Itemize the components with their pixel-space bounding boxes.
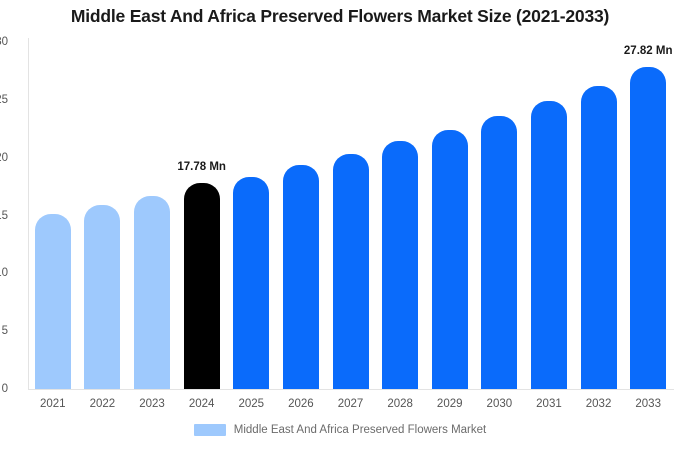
bar-value-label-2024: 17.78 Mn	[177, 161, 226, 173]
x-tick-label: 2031	[536, 398, 562, 410]
x-tick-label: 2023	[139, 398, 165, 410]
bar-chart: Middle East And Africa Preserved Flowers…	[0, 0, 680, 450]
legend-swatch-icon	[194, 424, 226, 436]
x-tick-label: 2025	[238, 398, 264, 410]
y-tick-label: 0	[0, 383, 8, 395]
y-tick-label: 5	[0, 325, 8, 337]
bar-value-label-2033: 27.82 Mn	[624, 45, 673, 57]
bar-2030[interactable]	[481, 116, 517, 389]
legend-label: Middle East And Africa Preserved Flowers…	[234, 424, 486, 436]
bar-2021[interactable]	[35, 214, 71, 389]
bar-2033[interactable]	[630, 67, 666, 389]
bar-2031[interactable]	[531, 101, 567, 389]
bar-2028[interactable]	[382, 141, 418, 389]
x-tick-label: 2029	[437, 398, 463, 410]
x-axis-line	[28, 389, 674, 390]
bar-2026[interactable]	[283, 165, 319, 389]
x-tick-label: 2026	[288, 398, 314, 410]
y-tick-label: 15	[0, 210, 8, 222]
y-tick-label: 20	[0, 152, 8, 164]
chart-legend: Middle East And Africa Preserved Flowers…	[0, 424, 680, 436]
chart-title: Middle East And Africa Preserved Flowers…	[0, 6, 680, 27]
bar-2023[interactable]	[134, 196, 170, 389]
x-tick-label: 2032	[586, 398, 612, 410]
x-tick-label: 2028	[387, 398, 413, 410]
bar-2022[interactable]	[84, 205, 120, 389]
x-tick-label: 2030	[487, 398, 513, 410]
bar-2027[interactable]	[333, 154, 369, 389]
x-tick-label: 2021	[40, 398, 66, 410]
x-tick-label: 2024	[189, 398, 215, 410]
x-tick-label: 2027	[338, 398, 364, 410]
y-tick-label: 10	[0, 267, 8, 279]
y-tick-label: 25	[0, 94, 8, 106]
plot-area	[28, 42, 673, 389]
x-tick-label: 2022	[90, 398, 116, 410]
y-tick-label: 30	[0, 36, 8, 48]
bar-2029[interactable]	[432, 130, 468, 389]
legend-item[interactable]: Middle East And Africa Preserved Flowers…	[194, 424, 486, 436]
bar-2032[interactable]	[581, 86, 617, 389]
bar-2025[interactable]	[233, 177, 269, 389]
x-tick-label: 2033	[635, 398, 661, 410]
bar-2024[interactable]	[184, 183, 220, 389]
